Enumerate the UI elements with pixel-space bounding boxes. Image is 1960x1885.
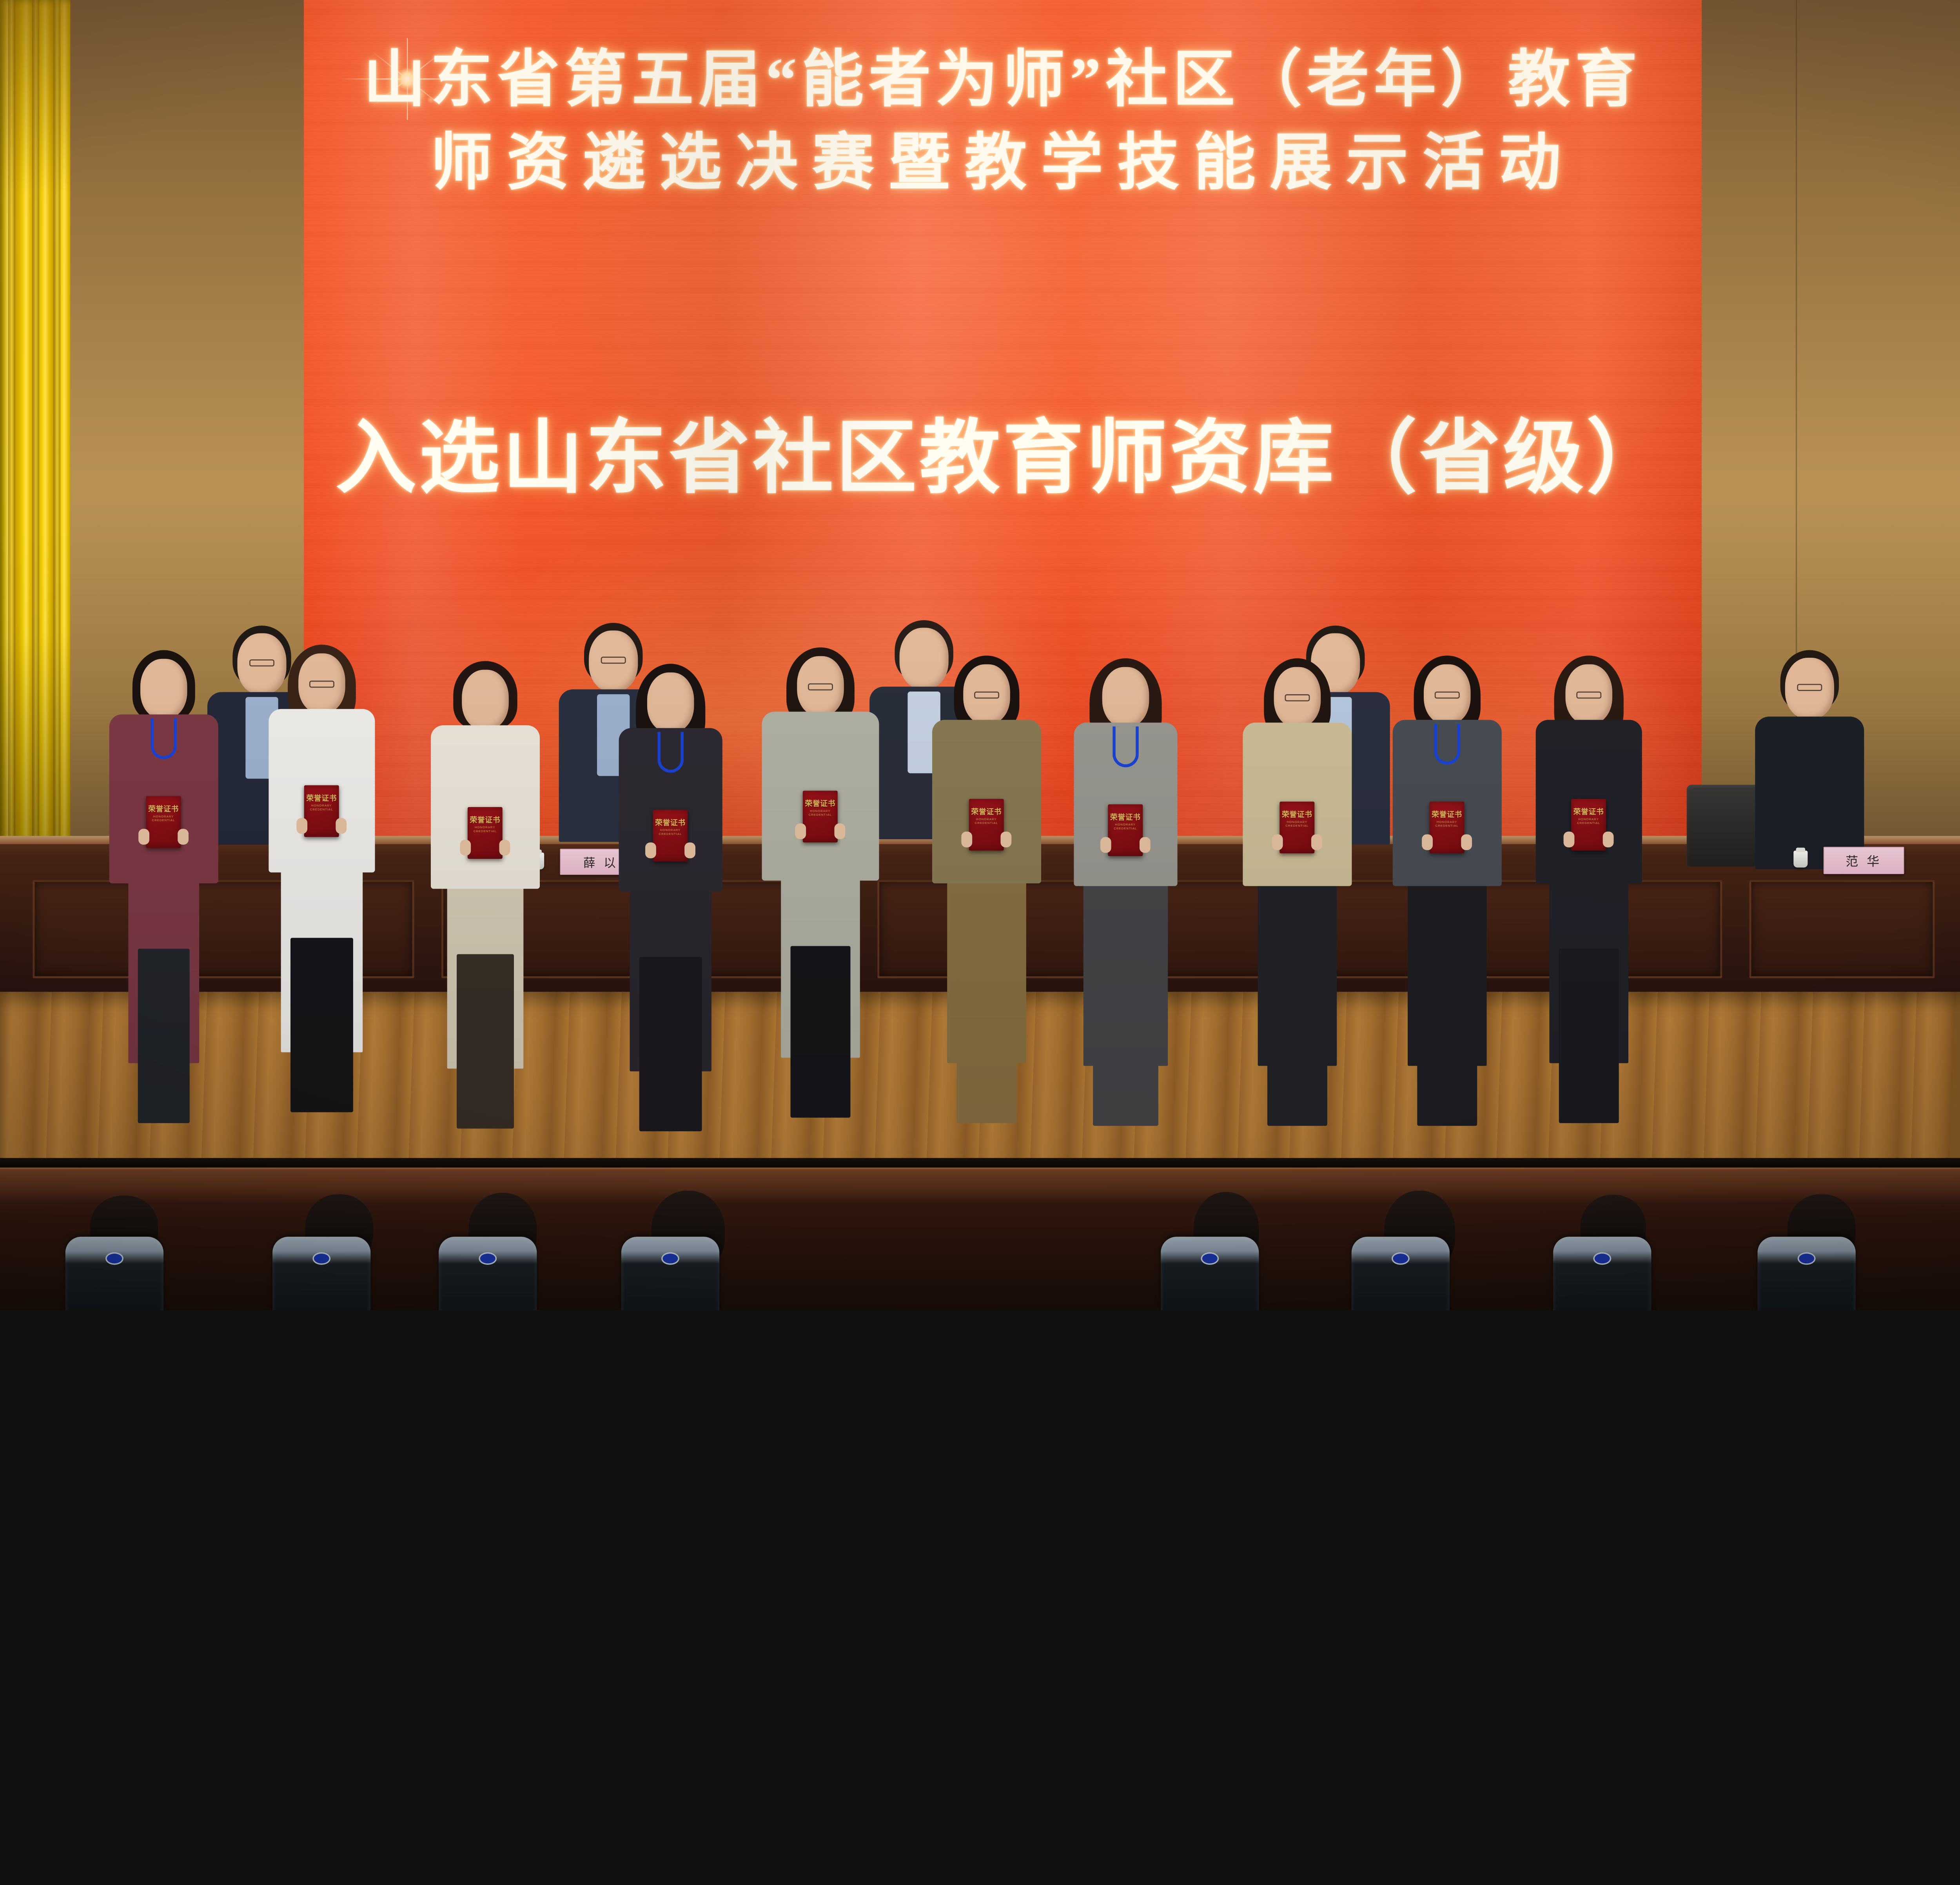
honorary-certificate: 荣誉证书HONORARYCREDENTIAL	[803, 791, 838, 842]
hand	[834, 824, 845, 839]
hand	[1140, 837, 1151, 853]
auditorium-seat	[1758, 1237, 1856, 1310]
table-front-panel	[1749, 880, 1935, 978]
seat-logo-icon	[1799, 1254, 1814, 1263]
table-front-panel	[1313, 880, 1722, 978]
face	[647, 673, 694, 733]
hand	[296, 818, 307, 834]
hand	[795, 824, 806, 839]
hand	[1311, 834, 1322, 850]
honorary-certificate: 荣誉证书HONORARYCREDENTIAL	[653, 810, 688, 862]
certificate-chinese-title: 荣誉证书	[306, 795, 337, 802]
certificate-english-title: HONORARYCREDENTIAL	[1285, 820, 1308, 828]
hand	[645, 842, 656, 858]
glasses-icon	[309, 680, 334, 688]
hand	[336, 818, 347, 834]
hand	[178, 829, 189, 845]
certificate-english-title: HONORARYCREDENTIAL	[1577, 818, 1600, 825]
auditorium-seat	[1352, 1237, 1450, 1310]
honorary-certificate: 荣誉证书HONORARYCREDENTIAL	[1571, 799, 1606, 851]
certificate-english-title: HONORARYCREDENTIAL	[975, 818, 998, 825]
certificate-chinese-title: 荣誉证书	[1110, 814, 1141, 821]
legs	[290, 938, 353, 1112]
legs	[956, 949, 1016, 1123]
seat-logo-icon	[1595, 1254, 1610, 1263]
seat-logo-icon	[1202, 1254, 1218, 1263]
hand	[684, 842, 695, 858]
honorary-certificate: 荣誉证书HONORARYCREDENTIAL	[1108, 804, 1143, 856]
glasses-icon	[974, 691, 999, 698]
legs	[457, 954, 514, 1128]
hand	[1603, 832, 1614, 847]
lens-flare-icon	[361, 33, 454, 125]
legs	[639, 957, 702, 1131]
auditorium-seat	[1553, 1237, 1651, 1310]
honorary-certificate: 荣誉证书HONORARYCREDENTIAL	[146, 796, 181, 848]
hand	[1100, 837, 1111, 853]
face	[1102, 667, 1149, 727]
curtain-fold	[8, 0, 15, 880]
legs	[1267, 951, 1327, 1126]
certificate-chinese-title: 荣誉证书	[1282, 811, 1312, 818]
hand	[1272, 834, 1283, 850]
curtain-fold	[32, 0, 39, 880]
auditorium-seat	[621, 1237, 719, 1310]
certificate-english-title: HONORARYCREDENTIAL	[1114, 823, 1137, 831]
lanyard	[1434, 724, 1460, 764]
legs	[1417, 951, 1477, 1126]
seat-logo-icon	[1393, 1254, 1408, 1263]
stage-curtain	[0, 0, 70, 880]
hand	[138, 829, 149, 845]
certificate-english-title: HONORARYCREDENTIAL	[809, 809, 832, 817]
glasses-icon	[249, 659, 274, 666]
audience-area	[0, 1168, 1960, 1310]
seat-logo-icon	[663, 1254, 678, 1263]
nameplate: 范 华	[1824, 847, 1904, 874]
certificate-chinese-title: 荣誉证书	[655, 819, 686, 827]
legs	[790, 946, 850, 1118]
honorary-certificate: 荣誉证书HONORARYCREDENTIAL	[468, 807, 503, 859]
banner-subtitle: 入选山东省社区教育师资库（省级）	[304, 392, 1702, 509]
honorary-certificate: 荣誉证书HONORARYCREDENTIAL	[304, 785, 339, 837]
glasses-icon	[1434, 691, 1459, 698]
auditorium-seat	[1161, 1237, 1259, 1310]
face	[462, 670, 509, 730]
hand	[1422, 834, 1433, 850]
certificate-english-title: HONORARYCREDENTIAL	[659, 829, 682, 836]
seat-logo-icon	[314, 1254, 329, 1263]
certificate-english-title: HONORARYCREDENTIAL	[152, 815, 175, 822]
certificate-chinese-title: 荣誉证书	[1573, 808, 1604, 816]
table-front-panel	[877, 880, 1286, 978]
lanyard	[657, 732, 684, 773]
seat-logo-icon	[480, 1254, 495, 1263]
hand	[1564, 832, 1575, 847]
honorary-certificate: 荣誉证书HONORARYCREDENTIAL	[1430, 802, 1465, 853]
audience-desk-rail	[0, 1168, 1960, 1203]
glasses-icon	[1797, 684, 1822, 691]
certificate-chinese-title: 荣誉证书	[1432, 811, 1462, 818]
face	[899, 628, 948, 689]
glasses-icon	[1285, 694, 1310, 701]
auditorium-seat	[272, 1237, 370, 1310]
auditorium-seat	[439, 1237, 537, 1310]
certificate-chinese-title: 荣誉证书	[470, 816, 500, 824]
hand	[961, 832, 972, 847]
lanyard	[151, 718, 177, 759]
glasses-icon	[1576, 691, 1601, 698]
face	[140, 659, 187, 719]
legs	[138, 949, 189, 1123]
legs	[1093, 951, 1158, 1126]
certificate-english-title: HONORARYCREDENTIAL	[474, 826, 497, 833]
stage-front-edge	[0, 1158, 1960, 1168]
auditorium-seat	[65, 1237, 163, 1310]
curtain-fold	[53, 0, 60, 880]
certificate-english-title: HONORARYCREDENTIAL	[1436, 820, 1459, 828]
banner-title-line-2: 师资遴选决赛暨教学技能展示活动	[304, 112, 1702, 201]
certificate-chinese-title: 荣誉证书	[148, 806, 179, 813]
glasses-icon	[808, 683, 833, 690]
banner-title-line-1: 山东省第五届“能者为师”社区（老年）教育	[304, 29, 1702, 118]
shirt	[1793, 722, 1826, 804]
seat-logo-icon	[107, 1254, 122, 1263]
certificate-chinese-title: 荣誉证书	[971, 808, 1002, 816]
glasses-icon	[601, 657, 626, 664]
honorary-certificate: 荣誉证书HONORARYCREDENTIAL	[969, 799, 1004, 851]
certificate-chinese-title: 荣誉证书	[805, 800, 835, 807]
ceremony-photograph: 山东省第五届“能者为师”社区（老年）教育 师资遴选决赛暨教学技能展示活动 入选山…	[0, 0, 1960, 1310]
hand	[460, 840, 471, 855]
hand	[1000, 832, 1011, 847]
lanyard	[1112, 726, 1139, 767]
hand	[1461, 834, 1472, 850]
honorary-certificate: 荣誉证书HONORARYCREDENTIAL	[1279, 802, 1314, 853]
certificate-english-title: HONORARYCREDENTIAL	[310, 804, 333, 811]
legs	[1559, 949, 1619, 1123]
hand	[499, 840, 510, 855]
torso	[1755, 717, 1864, 869]
tea-mug	[1793, 851, 1808, 867]
